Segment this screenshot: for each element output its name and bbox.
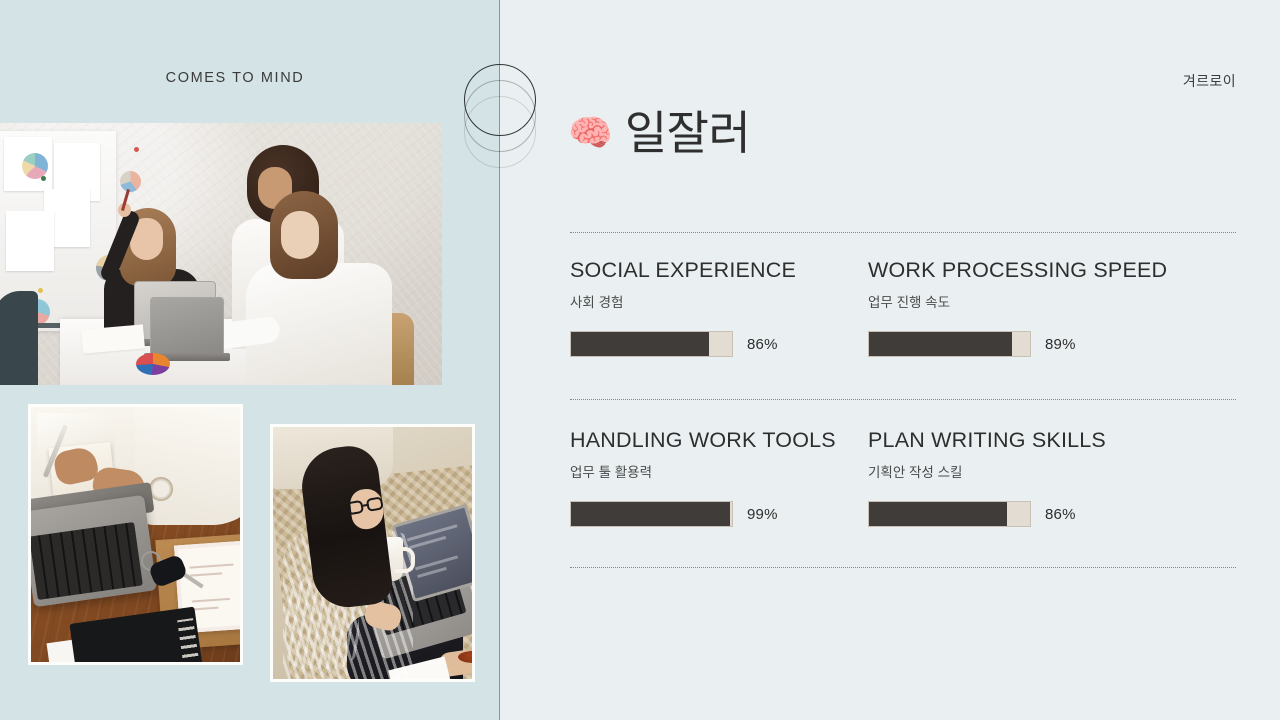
progress-bar-track (868, 331, 1031, 357)
pie-chart-icon-document (136, 353, 170, 375)
progress-bar-fill (571, 332, 709, 356)
photo-woman-laptop-tea (270, 424, 475, 682)
skill-handling-work-tools: HANDLING WORK TOOLS 업무 툴 활용력 99% (570, 428, 868, 527)
watch-icon (149, 477, 173, 501)
skill-bar-line: 86% (868, 501, 1166, 527)
skill-social-experience: SOCIAL EXPERIENCE 사회 경험 86% (570, 258, 868, 357)
progress-bar-value: 99% (747, 506, 778, 523)
skill-title: SOCIAL EXPERIENCE (570, 258, 868, 283)
skill-bar-line: 86% (570, 331, 868, 357)
decorative-circle-stack-icon (464, 64, 536, 168)
left-panel: COMES TO MIND (0, 0, 500, 720)
skill-plan-writing-skills: PLAN WRITING SKILLS 기획안 작성 스킬 86% (868, 428, 1166, 527)
slide-root: COMES TO MIND (0, 0, 1280, 720)
skills-row-1: SOCIAL EXPERIENCE 사회 경험 86% WORK PROCESS… (570, 258, 1240, 357)
skills-row-2: HANDLING WORK TOOLS 업무 툴 활용력 99% PLAN WR… (570, 428, 1240, 527)
skill-work-processing-speed: WORK PROCESSING SPEED 업무 진행 속도 89% (868, 258, 1166, 357)
skill-title: WORK PROCESSING SPEED (868, 258, 1166, 283)
page-title-text: 일잘러 (625, 110, 750, 156)
skill-title: HANDLING WORK TOOLS (570, 428, 868, 453)
progress-bar-fill (571, 502, 730, 526)
skill-bar-line: 89% (868, 331, 1166, 357)
office-chair-icon (0, 291, 38, 385)
progress-bar-track (570, 501, 733, 527)
progress-bar-fill (869, 502, 1007, 526)
progress-bar-fill (869, 332, 1012, 356)
progress-bar-track (570, 331, 733, 357)
skill-bar-line: 99% (570, 501, 868, 527)
skills-grid: SOCIAL EXPERIENCE 사회 경험 86% WORK PROCESS… (570, 258, 1240, 527)
progress-bar-value: 86% (1045, 506, 1076, 523)
skill-title: PLAN WRITING SKILLS (868, 428, 1166, 453)
divider-dotted-top (570, 232, 1236, 233)
page-title: 🧠 일잘러 (568, 110, 750, 156)
skill-subtitle: 업무 툴 활용력 (570, 461, 868, 481)
divider-dotted-bottom (570, 567, 1236, 568)
progress-bar-value: 89% (1045, 336, 1076, 353)
skill-subtitle: 업무 진행 속도 (868, 291, 1166, 311)
progress-bar-value: 86% (747, 336, 778, 353)
brandmark-label: 겨르로이 (1183, 71, 1236, 91)
left-panel-kicker: COMES TO MIND (0, 70, 470, 86)
skill-subtitle: 기획안 작성 스킬 (868, 461, 1166, 481)
brain-icon: 🧠 (568, 115, 613, 151)
skill-subtitle: 사회 경험 (570, 291, 868, 311)
progress-bar-track (868, 501, 1031, 527)
photo-team-meeting (0, 123, 442, 385)
photo-desk-writing (28, 404, 243, 665)
